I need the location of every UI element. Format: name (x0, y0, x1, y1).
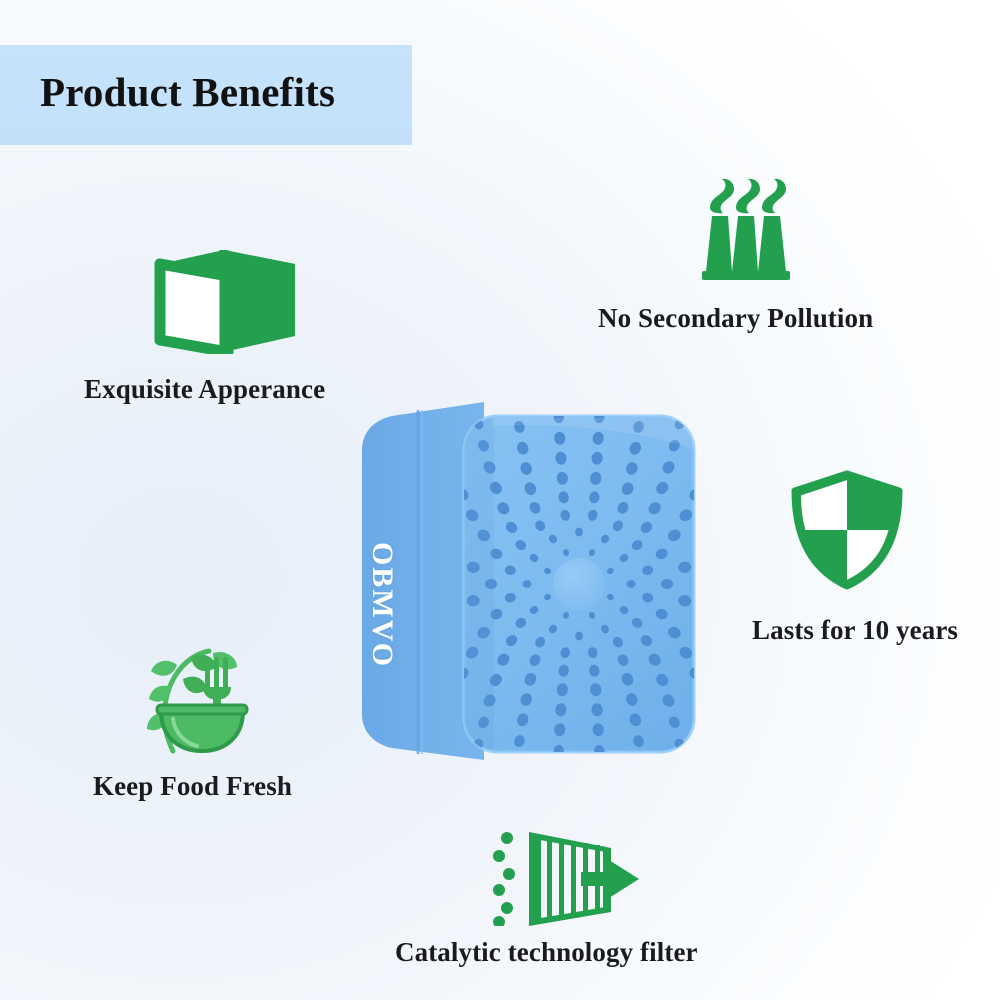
bowl-leaf-icon (143, 643, 261, 760)
filter-arrow-icon (493, 822, 643, 931)
cube-icon (140, 236, 300, 359)
factory-icon (698, 172, 794, 287)
product-center-disc (553, 558, 605, 610)
product-image (352, 392, 704, 780)
product-svg (352, 392, 704, 780)
infographic-canvas: Product Benefits Exquisite Apperance (0, 0, 1000, 1000)
benefit-label-shield: Lasts for 10 years (752, 615, 958, 646)
benefit-label-food: Keep Food Fresh (93, 771, 292, 802)
benefit-label-appearance: Exquisite Apperance (84, 374, 325, 405)
benefit-label-filter: Catalytic technology filter (395, 937, 698, 968)
shield-icon (789, 470, 905, 595)
benefit-label-pollution: No Secondary Pollution (598, 303, 873, 334)
page-title: Product Benefits (40, 68, 335, 116)
